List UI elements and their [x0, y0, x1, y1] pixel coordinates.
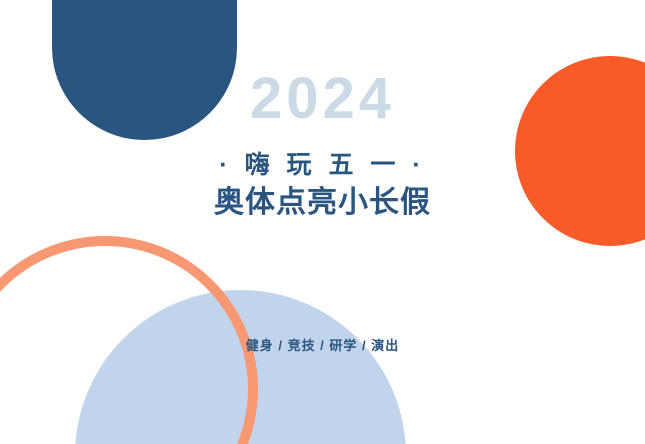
headline-main-line: 奥体点亮小长假 [0, 185, 645, 221]
promo-poster: 2024 · 嗨 玩 五 一 · 奥体点亮小长假 健身 / 竞技 / 研学 / … [0, 0, 645, 444]
year-label: 2024 [0, 70, 645, 128]
headline-top-line: · 嗨 玩 五 一 · [0, 150, 645, 180]
poster-subline: 健身 / 竞技 / 研学 / 演出 [0, 338, 645, 355]
poster-text: 2024 · 嗨 玩 五 一 · 奥体点亮小长假 健身 / 竞技 / 研学 / … [0, 0, 645, 444]
